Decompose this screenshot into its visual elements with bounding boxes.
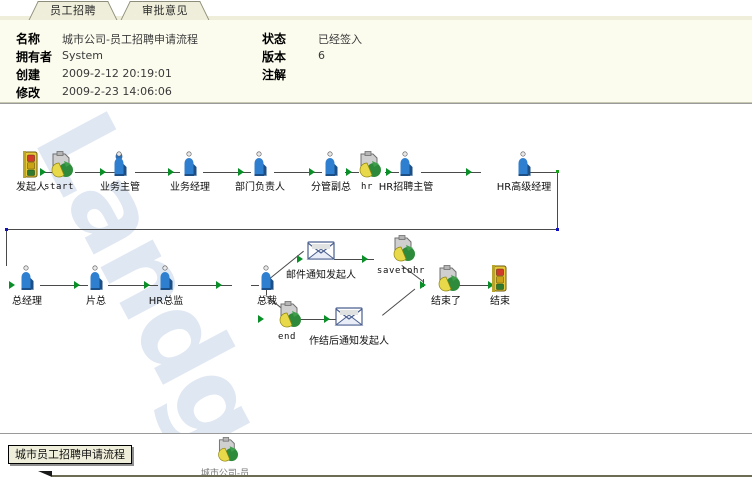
person-icon bbox=[61, 265, 131, 295]
field-value-name: 城市公司-员工招聘申请流程 bbox=[62, 31, 198, 47]
node-hr-recruit-supervisor[interactable]: HR招聘主管 bbox=[371, 151, 441, 193]
lower-pane: 城市员工招聘申请流程 城市公司-员 bbox=[0, 433, 752, 491]
person-icon bbox=[85, 151, 155, 181]
tab-label: 审批意见 bbox=[142, 4, 188, 17]
node-label: 作结后通知发起人 bbox=[306, 336, 392, 347]
process-name-button[interactable]: 城市员工招聘申请流程 bbox=[8, 445, 132, 464]
field-label-modified: 修改 bbox=[16, 84, 40, 101]
node-department-head[interactable]: 部门负责人 bbox=[225, 151, 295, 193]
node-label: 结束 bbox=[465, 296, 535, 307]
workflow-diagram-canvas[interactable]: Landgray 发起人 bbox=[0, 103, 752, 433]
field-value-version: 6 bbox=[318, 49, 325, 62]
node-label: 业务经理 bbox=[155, 182, 225, 193]
field-label-created: 创建 bbox=[16, 66, 40, 83]
taskbar-process-item[interactable]: 城市公司-员 bbox=[190, 437, 260, 479]
field-label-name: 名称 bbox=[16, 30, 40, 47]
arrow-r2-2 bbox=[216, 281, 222, 289]
field-value-created: 2009-2-12 20:19:01 bbox=[62, 67, 172, 80]
connector-dot-blue bbox=[556, 228, 559, 231]
traffic-light-icon bbox=[465, 265, 535, 295]
field-value-status: 已经签入 bbox=[318, 31, 362, 47]
node-label: HR高级经理 bbox=[489, 182, 559, 193]
node-label: 邮件通知发起人 bbox=[281, 270, 361, 281]
tab-approval-comments[interactable]: 审批意见 bbox=[136, 1, 194, 20]
tab-strip: 员工招聘 审批意见 bbox=[0, 0, 752, 20]
node-business-manager[interactable]: 业务经理 bbox=[155, 151, 225, 193]
bottom-rule-arrow bbox=[38, 471, 52, 477]
canvas-top-divider bbox=[0, 103, 752, 104]
node-hr-director[interactable]: HR总监 bbox=[131, 265, 201, 307]
edge-wrap-left bbox=[6, 229, 558, 230]
person-icon bbox=[0, 265, 62, 295]
taskbar-item-label: 城市公司-员 bbox=[190, 466, 260, 479]
bottom-rule bbox=[52, 475, 752, 477]
node-business-supervisor[interactable]: 业务主管 bbox=[85, 151, 155, 193]
person-icon bbox=[155, 151, 225, 181]
gear-script-icon bbox=[24, 151, 94, 181]
node-label: 片总 bbox=[61, 296, 131, 307]
field-label-comment: 注解 bbox=[262, 66, 286, 83]
mail-icon bbox=[306, 305, 392, 335]
node-label: start bbox=[24, 182, 94, 193]
node-label: 总经理 bbox=[0, 296, 62, 307]
document-header-panel: 名称 城市公司-员工招聘申请流程 拥有者 System 创建 2009-2-12… bbox=[0, 20, 752, 103]
node-end-terminal[interactable]: 结束 bbox=[465, 265, 535, 307]
node-hr-senior-manager[interactable]: HR高级经理 bbox=[489, 151, 559, 193]
person-icon bbox=[489, 151, 559, 181]
field-label-version: 版本 bbox=[262, 48, 286, 65]
connector-dot-blue-left bbox=[5, 228, 8, 231]
field-value-owner: System bbox=[62, 49, 103, 62]
edge-wrap-downleft bbox=[6, 229, 7, 266]
node-label: HR招聘主管 bbox=[371, 182, 441, 193]
node-label: 部门负责人 bbox=[225, 182, 295, 193]
field-label-status: 状态 bbox=[262, 30, 286, 47]
node-start[interactable]: start bbox=[24, 151, 94, 193]
person-icon bbox=[131, 265, 201, 295]
tab-employee-recruitment[interactable]: 员工招聘 bbox=[44, 1, 102, 20]
person-icon bbox=[225, 151, 295, 181]
lower-pane-divider bbox=[0, 433, 752, 434]
node-notify-originator-mail[interactable]: 邮件通知发起人 bbox=[281, 239, 361, 281]
node-label: 业务主管 bbox=[85, 182, 155, 193]
tab-label: 员工招聘 bbox=[50, 4, 96, 17]
node-general-manager[interactable]: 总经理 bbox=[0, 265, 62, 307]
field-value-modified: 2009-2-23 14:06:06 bbox=[62, 85, 172, 98]
node-label: HR总监 bbox=[131, 296, 201, 307]
gear-script-icon bbox=[210, 453, 240, 466]
gear-script-icon bbox=[366, 235, 436, 265]
arrow-r1-7 bbox=[466, 168, 472, 176]
node-notify-after-close-mail[interactable]: 作结后通知发起人 bbox=[306, 305, 392, 347]
node-regional-chief[interactable]: 片总 bbox=[61, 265, 131, 307]
field-label-owner: 拥有者 bbox=[16, 48, 52, 65]
mail-icon bbox=[281, 239, 361, 269]
person-icon bbox=[371, 151, 441, 181]
